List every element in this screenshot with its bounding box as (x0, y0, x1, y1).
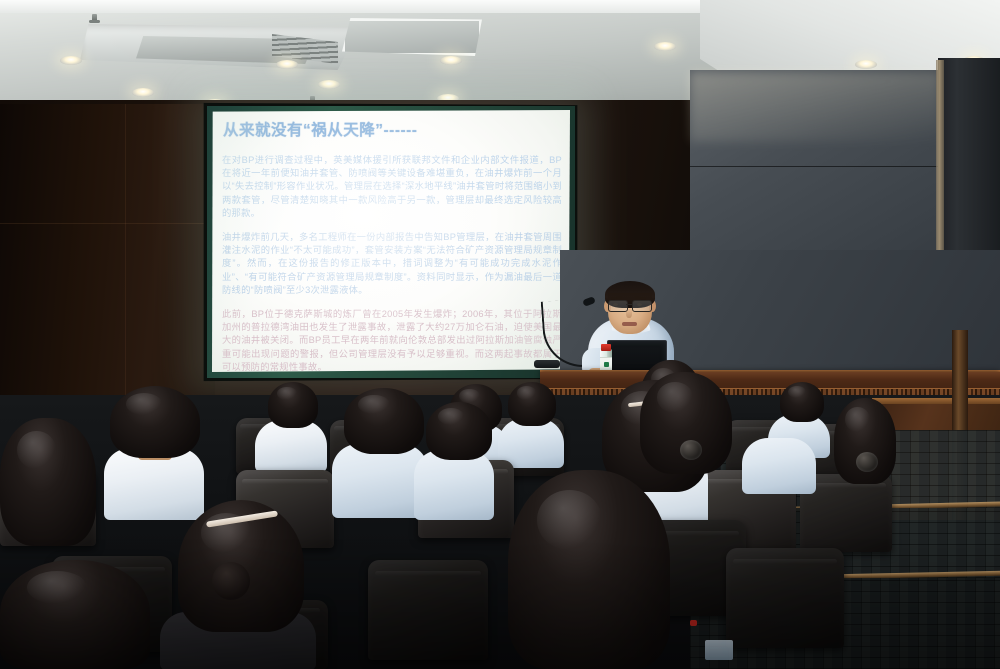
audience-hair-long (0, 418, 96, 546)
audience-hair-long (0, 560, 150, 669)
glasses-lens-right (632, 300, 652, 312)
downlight-icon (276, 60, 298, 69)
left-wood-panel-wall (0, 104, 215, 434)
slide-paragraph-1: 在对BP进行调查过程中，英美媒体援引所获联邦文件和企业内部文件报道，BP在将近一… (222, 154, 562, 220)
audience-shirt (414, 450, 494, 520)
downlight-icon (60, 56, 82, 65)
audience-hair (780, 382, 824, 422)
seat[interactable] (726, 548, 844, 648)
downlight-icon (318, 80, 340, 89)
wall-light-wash (690, 72, 940, 142)
audience-hair (426, 402, 492, 460)
audience-hair (268, 382, 318, 428)
wall-seam (690, 166, 940, 167)
audience-hair (110, 386, 200, 458)
slide-paragraph-3: 此前，BP位于德克萨斯城的炼厂曾在2005年发生爆炸；2006年，其位于阿拉斯加… (222, 308, 562, 372)
water-bottle-cap (601, 344, 611, 351)
conference-room-scene: 从来就没有“祸从天降”------ 在对BP进行调查过程中，英美媒体援引所获联邦… (0, 0, 1000, 669)
slide-paragraph-2: 油井爆炸前几天，多名工程师在一份内部报告中告知BP管理层，在油井套管周围灌注水泥… (222, 231, 562, 297)
downlight-icon (440, 56, 462, 65)
right-wood-rail-cap (872, 398, 1000, 404)
slide-body: 在对BP进行调查过程中，英美媒体援引所获联邦文件和企业内部文件报道，BP在将近一… (222, 154, 562, 372)
audience-hair (344, 388, 424, 454)
projection-screen[interactable]: 从来就没有“祸从天降”------ 在对BP进行调查过程中，英美媒体援引所获联邦… (212, 110, 570, 372)
audience-shirt (742, 438, 816, 494)
phone-screen[interactable] (705, 640, 733, 660)
hair-scrunchie (856, 452, 878, 472)
hair-scrunchie (680, 440, 702, 460)
glasses-lens-left (608, 300, 628, 312)
seat[interactable] (368, 560, 488, 660)
slide-title: 从来就没有“祸从天降”------ (223, 118, 417, 140)
audience-hair-long (508, 470, 670, 669)
sprinkler-icon (92, 14, 97, 22)
presenter-nose (626, 308, 632, 318)
red-indicator (690, 620, 697, 626)
hair-bun (212, 562, 250, 600)
audience-hair (508, 382, 556, 426)
microphone-base (534, 360, 560, 368)
presenter-mouth (622, 322, 637, 326)
ceiling-ac-vent-right (342, 18, 482, 56)
downlight-icon (654, 42, 676, 51)
downlight-icon (855, 60, 877, 69)
glasses-bridge (626, 304, 633, 305)
downlight-icon (132, 88, 154, 97)
